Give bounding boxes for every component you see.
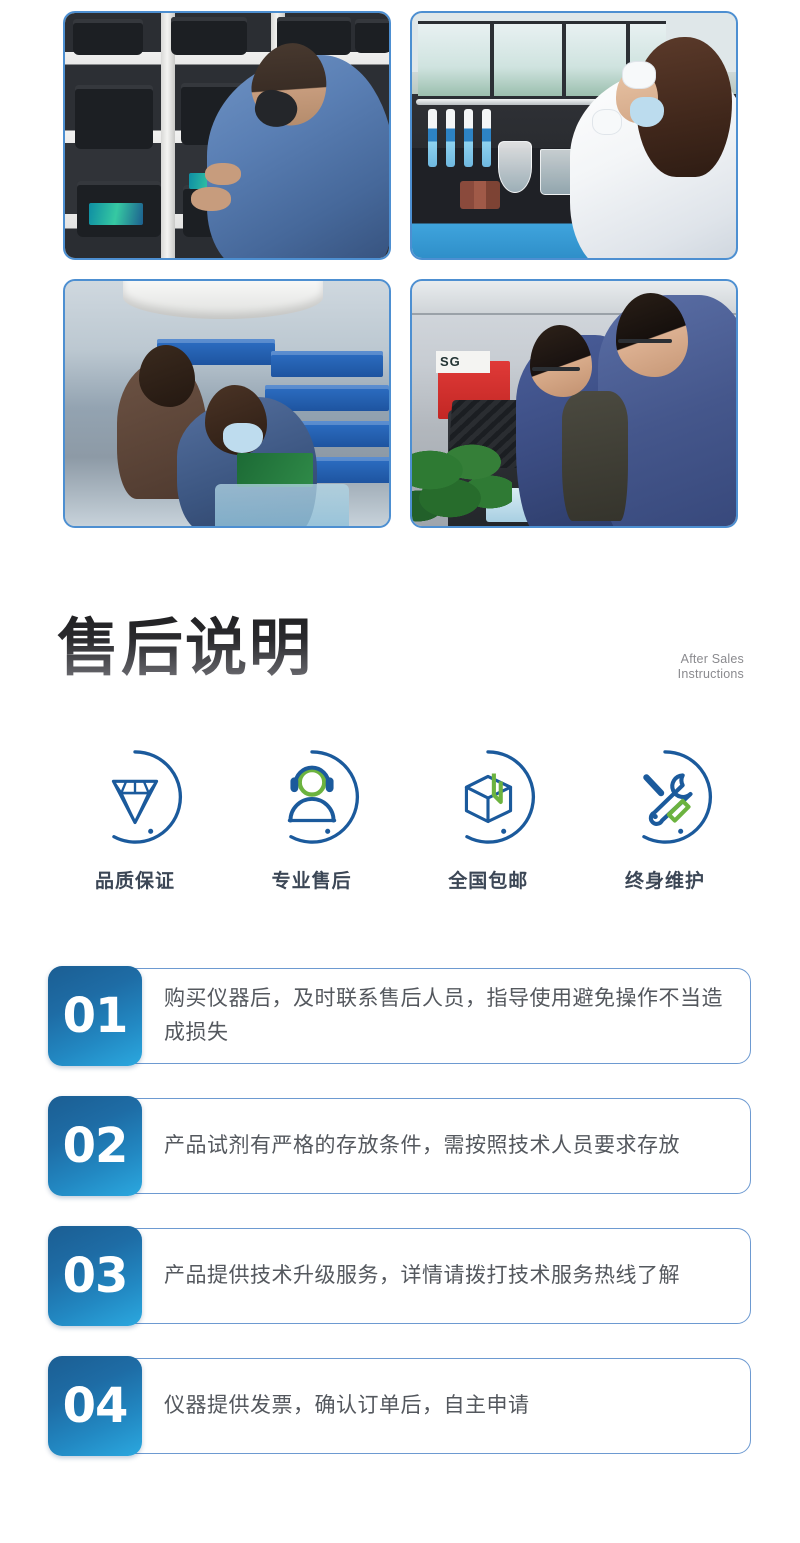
list-item[interactable]: 02 产品试剂有严格的存放条件，需按照技术人员要求存放 — [48, 1096, 751, 1196]
feature-quality-assurance[interactable]: 品质保证 — [55, 748, 215, 893]
feature-lifetime-maintenance[interactable]: 终身维护 — [585, 748, 745, 893]
after-sales-page: SG 售后说明 After Sales Instructions — [0, 0, 800, 1543]
list-item[interactable]: 03 产品提供技术升级服务，详情请拨打技术服务热线了解 — [48, 1226, 751, 1326]
feature-label: 终身维护 — [585, 866, 745, 893]
item-number-badge: 01 — [48, 966, 142, 1066]
diamond-icon — [86, 748, 184, 846]
item-number: 03 — [63, 1252, 128, 1300]
item-number: 02 — [63, 1122, 128, 1170]
item-number-badge: 04 — [48, 1356, 142, 1456]
headset-support-icon — [263, 748, 361, 846]
item-text: 产品提供技术升级服务，详情请拨打技术服务热线了解 — [164, 1226, 727, 1326]
section-header: 售后说明 After Sales Instructions — [0, 606, 800, 716]
feature-nationwide-free-shipping[interactable]: 全国包邮 — [408, 748, 568, 893]
photo-gallery: SG — [63, 11, 738, 528]
item-text: 产品试剂有严格的存放条件，需按照技术人员要求存放 — [164, 1096, 727, 1196]
item-number-badge: 03 — [48, 1226, 142, 1326]
feature-list: 品质保证 专业售后 — [55, 748, 745, 893]
feature-label: 品质保证 — [55, 866, 215, 893]
photo-image — [65, 281, 389, 526]
section-subtitle-line1: After Sales — [678, 652, 744, 667]
photo-image: SG — [412, 281, 736, 526]
photo-image — [65, 13, 389, 258]
item-number: 01 — [63, 992, 128, 1040]
package-box-icon — [439, 748, 537, 846]
photo-laboratory-pipetting — [410, 11, 738, 260]
photo-assembly-line-production — [63, 279, 391, 528]
photo-image — [412, 13, 736, 258]
item-text: 购买仪器后，及时联系售后人员，指导使用避免操作不当造成损失 — [164, 966, 727, 1066]
item-number-badge: 02 — [48, 1096, 142, 1196]
list-item[interactable]: 04 仪器提供发票，确认订单后，自主申请 — [48, 1356, 751, 1456]
wrench-screwdriver-icon — [616, 748, 714, 846]
feature-professional-support[interactable]: 专业售后 — [232, 748, 392, 893]
page-title: 售后说明 — [57, 606, 313, 690]
shelf-sign: SG — [436, 351, 490, 373]
item-number: 04 — [63, 1382, 128, 1430]
item-text: 仪器提供发票，确认订单后，自主申请 — [164, 1356, 727, 1456]
feature-label: 全国包邮 — [408, 866, 568, 893]
section-subtitle: After Sales Instructions — [678, 652, 744, 682]
feature-label: 专业售后 — [232, 866, 392, 893]
photo-warehouse-instrument-shelving — [63, 11, 391, 260]
section-subtitle-line2: Instructions — [678, 667, 744, 682]
photo-engineers-testing-device: SG — [410, 279, 738, 528]
instruction-list: 01 购买仪器后，及时联系售后人员，指导使用避免操作不当造成损失 02 产品试剂… — [48, 966, 751, 1486]
list-item[interactable]: 01 购买仪器后，及时联系售后人员，指导使用避免操作不当造成损失 — [48, 966, 751, 1066]
